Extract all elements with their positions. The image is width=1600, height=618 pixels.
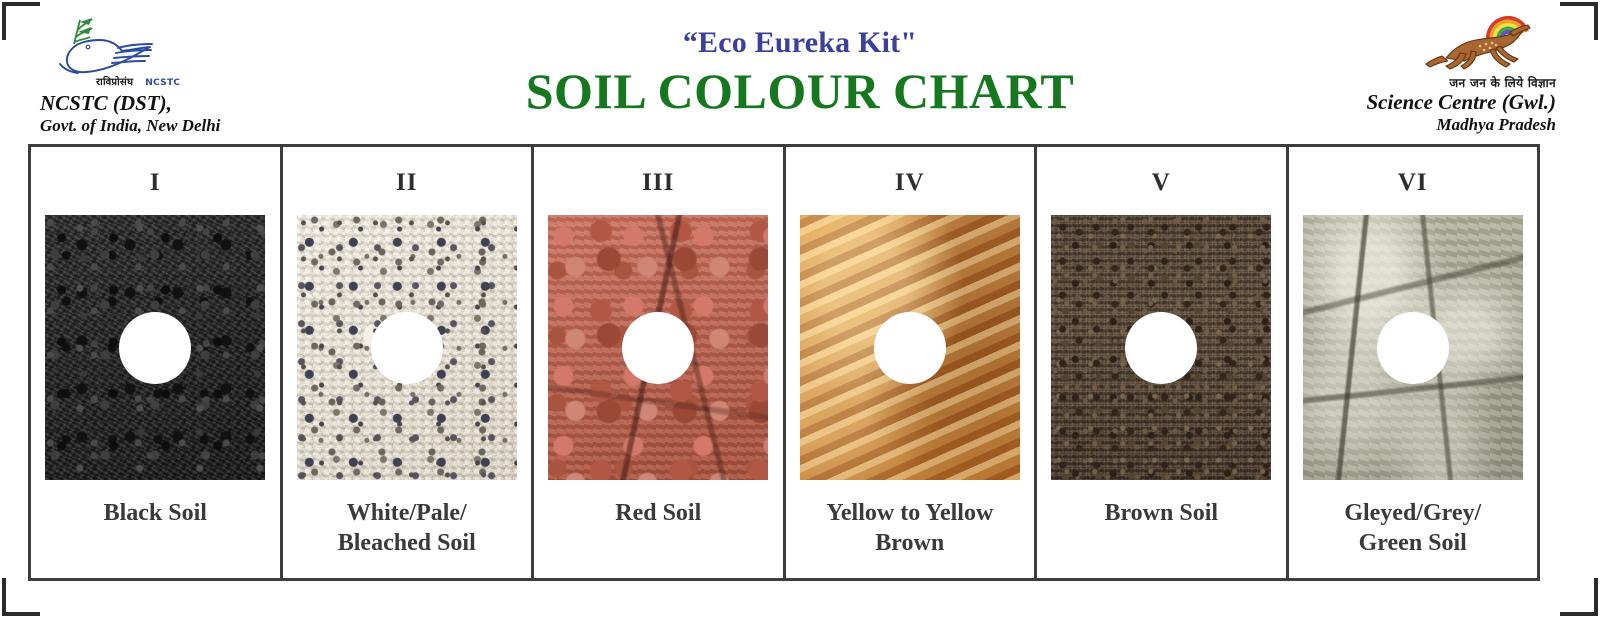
soil-column-6[interactable]: VI Gleyed/Grey/ Green Soil [1289, 147, 1538, 578]
crop-mark-bottom-right [1560, 578, 1598, 616]
left-org-name-line1: NCSTC (DST), [40, 92, 320, 116]
kit-name: “Eco Eureka Kit" [400, 26, 1200, 59]
soil-column-4[interactable]: IV Yellow to Yellow Brown [786, 147, 1038, 578]
crop-mark-bottom-left [2, 578, 40, 616]
title-block: “Eco Eureka Kit" SOIL COLOUR CHART [400, 26, 1200, 118]
soil-numeral: II [396, 169, 417, 197]
swatch-viewing-hole [1125, 312, 1197, 384]
swatch-viewing-hole [1377, 312, 1449, 384]
soil-swatch-brown [1051, 215, 1271, 480]
soil-swatch-pale [297, 215, 517, 480]
soil-swatch-wrapper [800, 215, 1020, 480]
right-organisation-block: जन जन के लिये विज्ञान Science Centre (Gw… [1256, 14, 1556, 134]
ncstc-abbr-caption: NCSTC [145, 78, 180, 88]
right-org-name-line2: Madhya Pradesh [1256, 115, 1556, 134]
soil-label: White/Pale/ Bleached Soil [334, 498, 480, 559]
soil-label: Brown Soil [1100, 498, 1222, 528]
soil-numeral: VI [1398, 169, 1428, 197]
soil-label: Red Soil [611, 498, 705, 528]
soil-column-3[interactable]: III Red Soil [534, 147, 786, 578]
soil-swatch-red [548, 215, 768, 480]
soil-swatch-gley [1303, 215, 1523, 480]
swatch-viewing-hole [622, 312, 694, 384]
crop-mark-top-left [2, 2, 40, 40]
left-organisation-block: राविप्रोसंघ NCSTC NCSTC (DST), Govt. of … [40, 14, 320, 135]
right-org-name-line1: Science Centre (Gwl.) [1256, 91, 1556, 115]
soil-swatch-wrapper [45, 215, 265, 480]
soil-numeral: IV [895, 169, 925, 197]
page-header: राविप्रोसंघ NCSTC NCSTC (DST), Govt. of … [0, 0, 1600, 140]
left-org-name-line2: Govt. of India, New Delhi [40, 116, 320, 135]
page-title: SOIL COLOUR CHART [400, 65, 1200, 118]
soil-swatch-black [45, 215, 265, 480]
soil-swatch-wrapper [1303, 215, 1523, 480]
soil-label: Yellow to Yellow Brown [822, 498, 997, 559]
soil-label: Gleyed/Grey/ Green Soil [1340, 498, 1485, 559]
soil-swatch-wrapper [1051, 215, 1271, 480]
science-centre-hindi-caption: जन जन के लिये विज्ञान [1256, 74, 1556, 91]
soil-swatch-wrapper [297, 215, 517, 480]
soil-colour-chart: I Black Soil II White/Pale/ Bleached Soi… [28, 144, 1540, 581]
soil-numeral: I [150, 169, 161, 197]
dove-with-olive-branch-icon [40, 14, 320, 76]
soil-column-5[interactable]: V Brown Soil [1037, 147, 1289, 578]
soil-numeral: III [642, 169, 674, 197]
swatch-viewing-hole [874, 312, 946, 384]
soil-column-2[interactable]: II White/Pale/ Bleached Soil [283, 147, 535, 578]
leaping-deer-with-rainbow-icon [1256, 14, 1556, 76]
soil-swatch-wrapper [548, 215, 768, 480]
crop-mark-top-right [1560, 2, 1598, 40]
soil-swatch-yellow [800, 215, 1020, 480]
soil-numeral: V [1152, 169, 1171, 197]
swatch-viewing-hole [371, 312, 443, 384]
soil-label: Black Soil [100, 498, 211, 528]
soil-column-1[interactable]: I Black Soil [31, 147, 283, 578]
ncstc-hindi-caption: राविप्रोसंघ [96, 77, 133, 88]
swatch-viewing-hole [119, 312, 191, 384]
